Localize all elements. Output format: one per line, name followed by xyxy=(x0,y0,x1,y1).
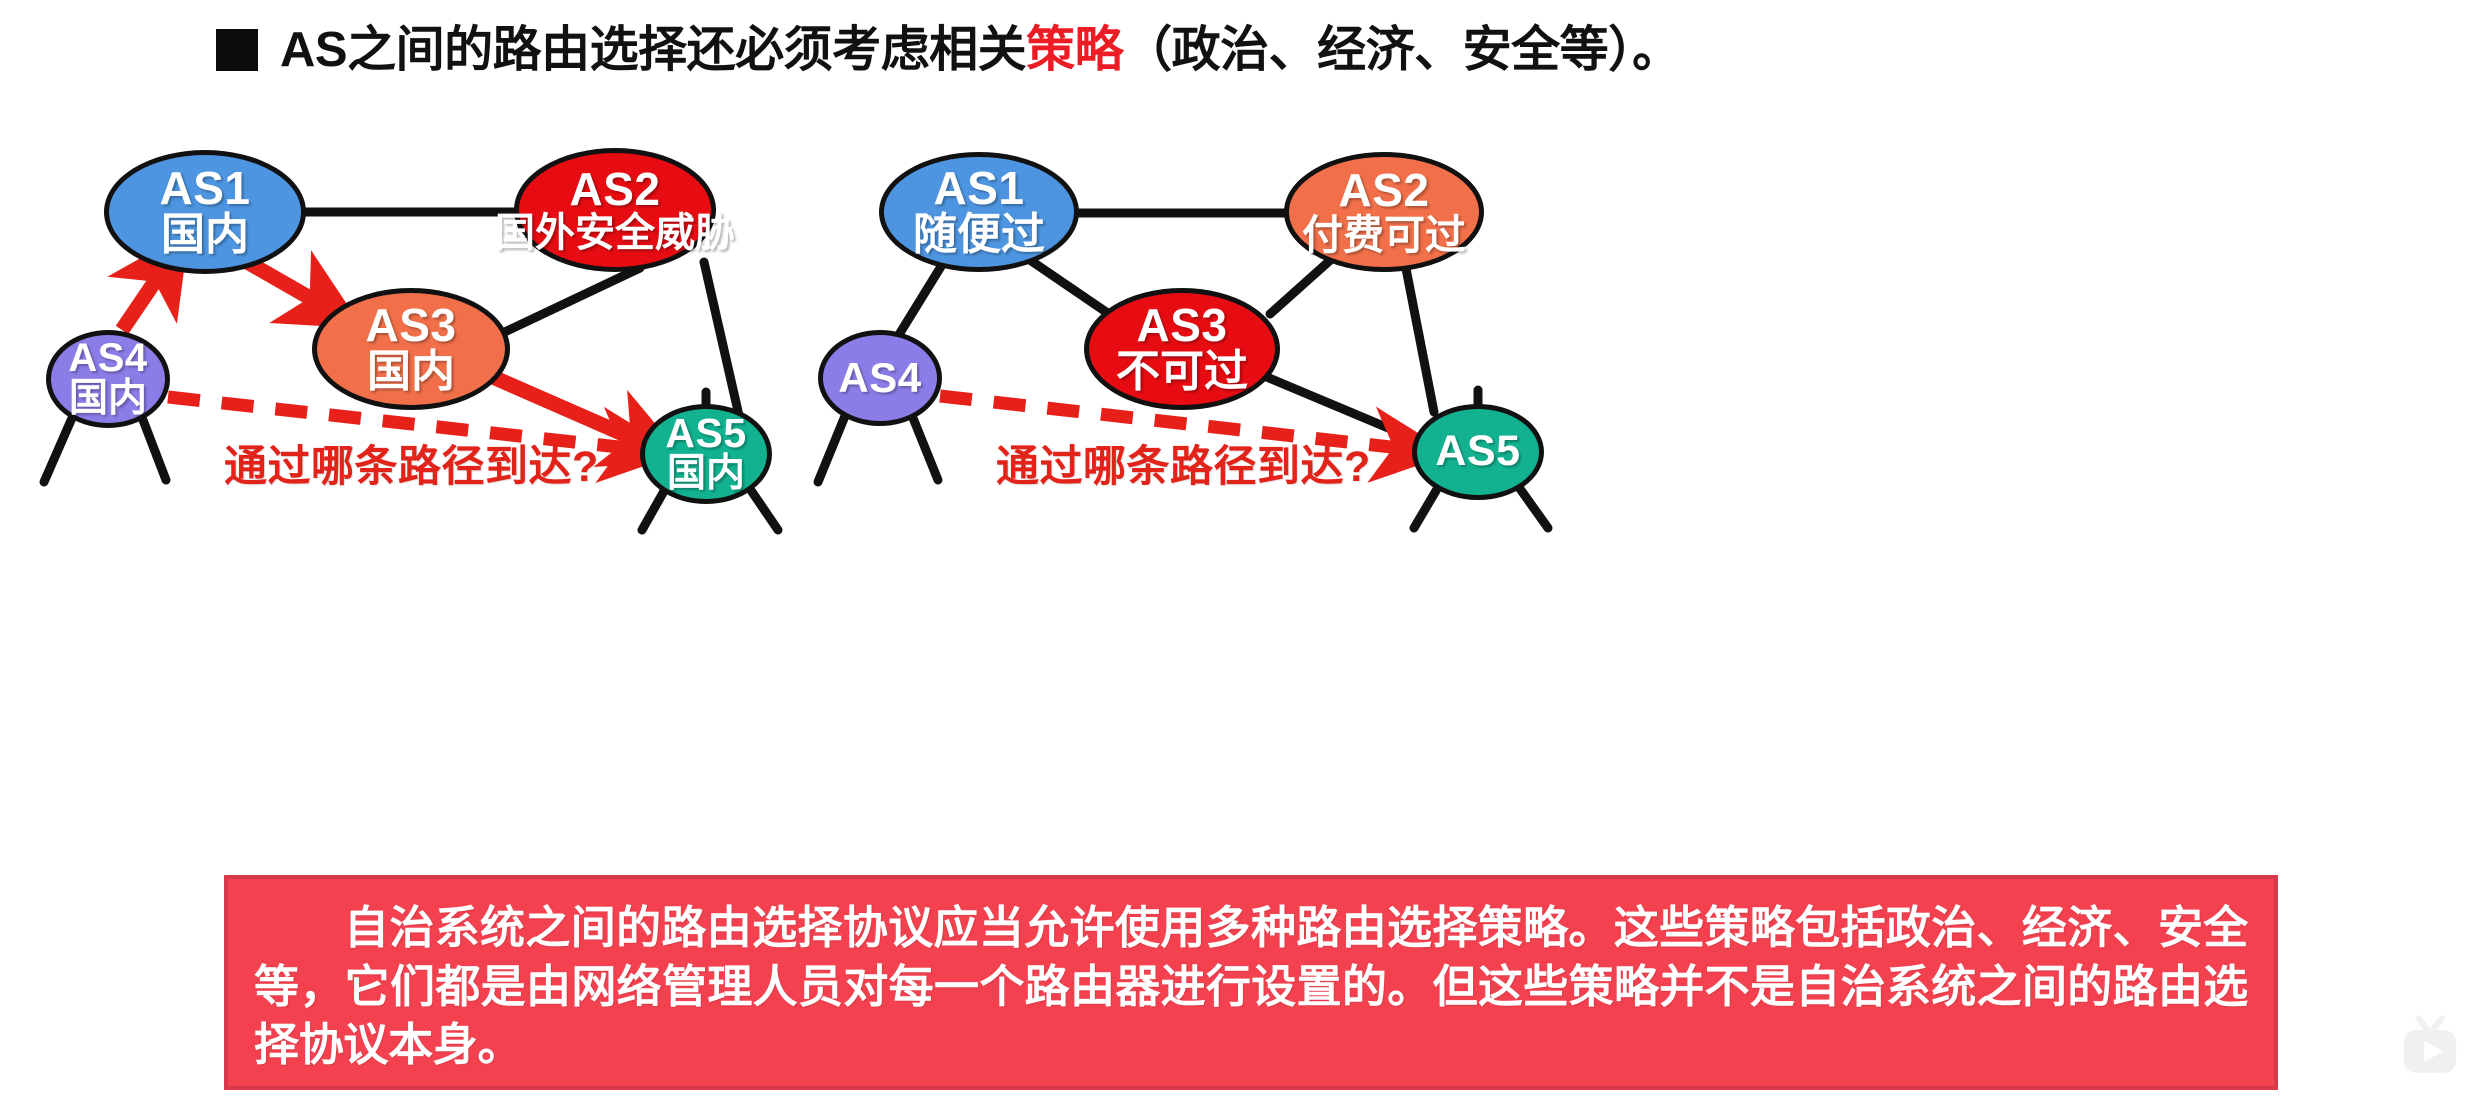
link-as3-as5 xyxy=(1250,370,1412,438)
question-label-right: 通过哪条路径到达? xyxy=(996,432,1371,494)
link-as1-as3 xyxy=(1027,258,1112,316)
node-as1-label: 随便过 xyxy=(913,212,1045,258)
node-as4-id: AS4 xyxy=(68,338,147,379)
title-highlight: 策略 xyxy=(1026,23,1123,77)
node-as1[interactable]: AS1 随便过 xyxy=(879,152,1079,272)
node-as1-id: AS1 xyxy=(160,165,251,212)
node-as4[interactable]: AS4 xyxy=(818,330,942,426)
node-as3-id: AS3 xyxy=(366,302,457,349)
title-row: AS之间的路由选择还必须考虑相关策略（政治、经济、安全等）。 xyxy=(0,0,2482,100)
node-as1[interactable]: AS1 国内 xyxy=(104,150,306,274)
stub-as4-left xyxy=(818,416,845,482)
node-as3[interactable]: AS3 国内 xyxy=(312,288,510,410)
link-as2-as5 xyxy=(704,262,740,420)
node-as5-id: AS5 xyxy=(1435,430,1520,474)
node-as2[interactable]: AS2 国外安全威胁 xyxy=(514,148,716,272)
node-as5-label: 国内 xyxy=(667,454,745,495)
node-as2-label: 付费可过 xyxy=(1302,214,1466,257)
node-as3-id: AS3 xyxy=(1137,302,1228,349)
node-as3-label: 国内 xyxy=(367,349,455,395)
summary-callout-text: 自治系统之间的路由选择协议应当允许使用多种路由选择策略。这些策略包括政治、经济、… xyxy=(254,899,2248,1075)
node-as2-id: AS2 xyxy=(1339,167,1430,214)
stub-as4-left xyxy=(44,418,72,482)
node-as3-label: 不可过 xyxy=(1116,349,1248,395)
node-as2-label: 国外安全威胁 xyxy=(495,212,735,254)
node-as4[interactable]: AS4 国内 xyxy=(46,330,170,428)
link-as2-as3 xyxy=(1270,255,1336,314)
node-as1-id: AS1 xyxy=(934,165,1025,212)
node-as2[interactable]: AS2 付费可过 xyxy=(1284,152,1484,272)
title-prefix: AS之间的路由选择还必须考虑相关 xyxy=(280,23,1026,77)
node-as1-label: 国内 xyxy=(161,212,249,258)
node-as4-id: AS4 xyxy=(838,357,921,400)
title-suffix: （政治、经济、安全等）。 xyxy=(1123,23,1681,77)
node-as3[interactable]: AS3 不可过 xyxy=(1084,288,1280,410)
stub-as4-right xyxy=(913,418,938,480)
link-as2-as3 xyxy=(492,268,640,338)
stub-as5-right xyxy=(1518,486,1548,528)
node-as4-label: 国内 xyxy=(69,379,147,420)
node-as5[interactable]: AS5 国内 xyxy=(640,404,772,504)
arrow-as4-as1 xyxy=(122,268,164,330)
black-square-bullet-icon xyxy=(216,29,258,71)
node-as5[interactable]: AS5 xyxy=(1412,404,1544,500)
node-as5-id: AS5 xyxy=(665,413,746,455)
tv-play-icon xyxy=(2392,1011,2468,1087)
page-title: AS之间的路由选择还必须考虑相关策略（政治、经济、安全等）。 xyxy=(280,26,1681,75)
stub-as4-right xyxy=(143,420,166,480)
link-as1-as4 xyxy=(900,260,945,333)
link-as2-as5 xyxy=(1402,248,1434,412)
node-as2-id: AS2 xyxy=(570,166,661,213)
stub-as5-right xyxy=(748,486,778,530)
stub-as5-left xyxy=(1414,484,1440,528)
question-label-left: 通过哪条路径到达? xyxy=(224,432,599,494)
summary-callout-box: 自治系统之间的路由选择协议应当允许使用多种路由选择策略。这些策略包括政治、经济、… xyxy=(224,875,2278,1090)
